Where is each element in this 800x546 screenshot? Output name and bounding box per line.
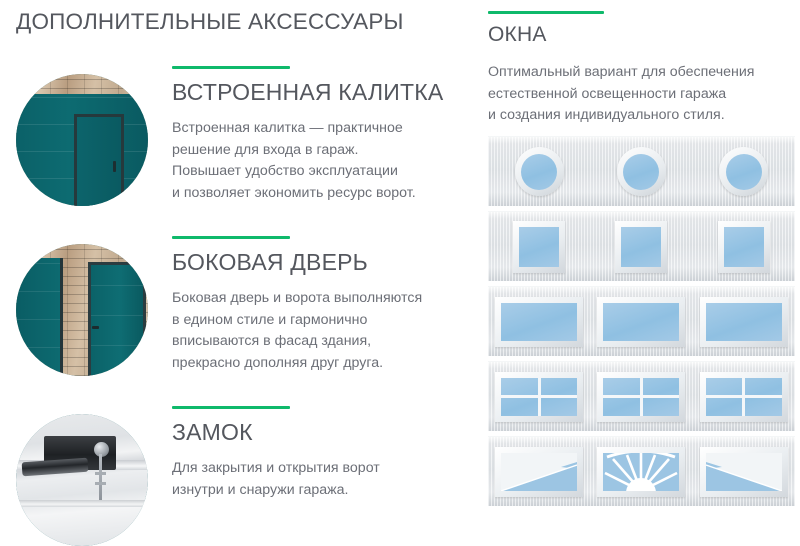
description-line: в едином стиле и гармонично <box>172 310 462 332</box>
wide-window <box>700 297 788 347</box>
description-line: Повышает удобство эксплуатации <box>172 161 462 183</box>
window-glass <box>706 303 782 341</box>
window-glass <box>501 303 577 341</box>
round-windows-panel[interactable] <box>488 136 795 206</box>
sunrise-right-icon <box>706 453 782 491</box>
wide-window <box>495 297 583 347</box>
window-panels-list <box>488 136 795 511</box>
page-title: ДОПОЛНИТЕЛЬНЫЕ АКСЕССУАРЫ <box>16 9 404 35</box>
accessory-title: ВСТРОЕННАЯ КАЛИТКА <box>172 79 462 106</box>
decorative-sunburst-windows-panel[interactable] <box>488 436 795 506</box>
accessory-title: БОКОВАЯ ДВЕРЬ <box>172 249 462 276</box>
round-window <box>515 147 564 196</box>
accessory-text-block: ВСТРОЕННАЯ КАЛИТКА Встроенная калитка — … <box>172 66 462 204</box>
accessory-description: Для закрытия и открытия ворот изнутри и … <box>172 458 462 501</box>
wide-window <box>597 297 685 347</box>
window-glass <box>521 154 557 190</box>
window-glass <box>501 378 577 416</box>
description-line: изнутри и снаружи гаража. <box>172 480 462 502</box>
garage-door-panel <box>16 258 60 376</box>
grid-window <box>597 372 685 422</box>
accent-rule <box>172 66 290 69</box>
accessories-column: ДОПОЛНИТЕЛЬНЫЕ АКСЕССУАРЫ ВСТРОЕННАЯ КАЛ… <box>0 0 470 540</box>
accessory-description: Встроенная калитка — практичное решение … <box>172 118 462 204</box>
door-edge-trim <box>60 258 63 376</box>
square-window <box>718 221 770 273</box>
window-glass <box>706 378 782 416</box>
sunrise-left-icon <box>501 453 577 491</box>
accessory-text-block: ЗАМОК Для закрытия и открытия ворот изну… <box>172 406 462 501</box>
accent-rule <box>172 236 290 239</box>
side-door <box>88 262 146 376</box>
description-line: естественной освещенности гаража <box>488 84 800 106</box>
square-windows-panel[interactable] <box>488 211 795 281</box>
window-glass <box>603 378 679 416</box>
windows-column: ОКНА Оптимальный вариант для обеспечения… <box>488 0 800 540</box>
windows-description: Оптимальный вариант для обеспечения есте… <box>488 62 800 127</box>
description-line: Оптимальный вариант для обеспечения <box>488 62 800 84</box>
sunburst-center-icon <box>603 453 679 491</box>
wide-windows-panel[interactable] <box>488 286 795 356</box>
window-glass <box>603 303 679 341</box>
round-window <box>617 147 666 196</box>
description-line: Для закрытия и открытия ворот <box>172 458 462 480</box>
integrated-wicket-door-photo <box>16 74 148 206</box>
door-handle <box>92 326 99 329</box>
accessories-windows-infographic: ДОПОЛНИТЕЛЬНЫЕ АКСЕССУАРЫ ВСТРОЕННАЯ КАЛ… <box>0 0 800 540</box>
grid-windows-panel[interactable] <box>488 361 795 431</box>
accessory-description: Боковая дверь и ворота выполняются в еди… <box>172 288 462 374</box>
square-window <box>513 221 565 273</box>
description-line: и создания индивидуального стиля. <box>488 105 800 127</box>
door-surface <box>16 414 148 546</box>
description-line: и позволяет экономить ресурс ворот. <box>172 183 462 205</box>
round-window <box>719 147 768 196</box>
description-line: Встроенная калитка — практичное <box>172 118 462 140</box>
grid-window <box>495 372 583 422</box>
window-glass <box>726 154 762 190</box>
accessory-title: ЗАМОК <box>172 419 462 446</box>
key <box>99 454 102 500</box>
accent-rule <box>172 406 290 409</box>
description-line: Боковая дверь и ворота выполняются <box>172 288 462 310</box>
windows-title: ОКНА <box>488 23 547 47</box>
accessory-text-block: БОКОВАЯ ДВЕРЬ Боковая дверь и ворота вып… <box>172 236 462 374</box>
window-glass <box>623 154 659 190</box>
window-glass <box>724 227 764 267</box>
square-window <box>615 221 667 273</box>
decorative-window-right <box>700 447 788 497</box>
description-line: решение для входа в гараж. <box>172 140 462 162</box>
side-door-photo <box>16 244 148 376</box>
description-line: вписываются в фасад здания, <box>172 331 462 353</box>
accent-rule <box>488 11 604 14</box>
window-glass <box>621 227 661 267</box>
description-line: прекрасно дополняя друг друга. <box>172 353 462 375</box>
wicket-door <box>74 114 124 206</box>
decorative-window-left <box>495 447 583 497</box>
decorative-window-center <box>597 447 685 497</box>
window-glass <box>519 227 559 267</box>
grid-window <box>700 372 788 422</box>
lock-handle-photo <box>16 414 148 546</box>
